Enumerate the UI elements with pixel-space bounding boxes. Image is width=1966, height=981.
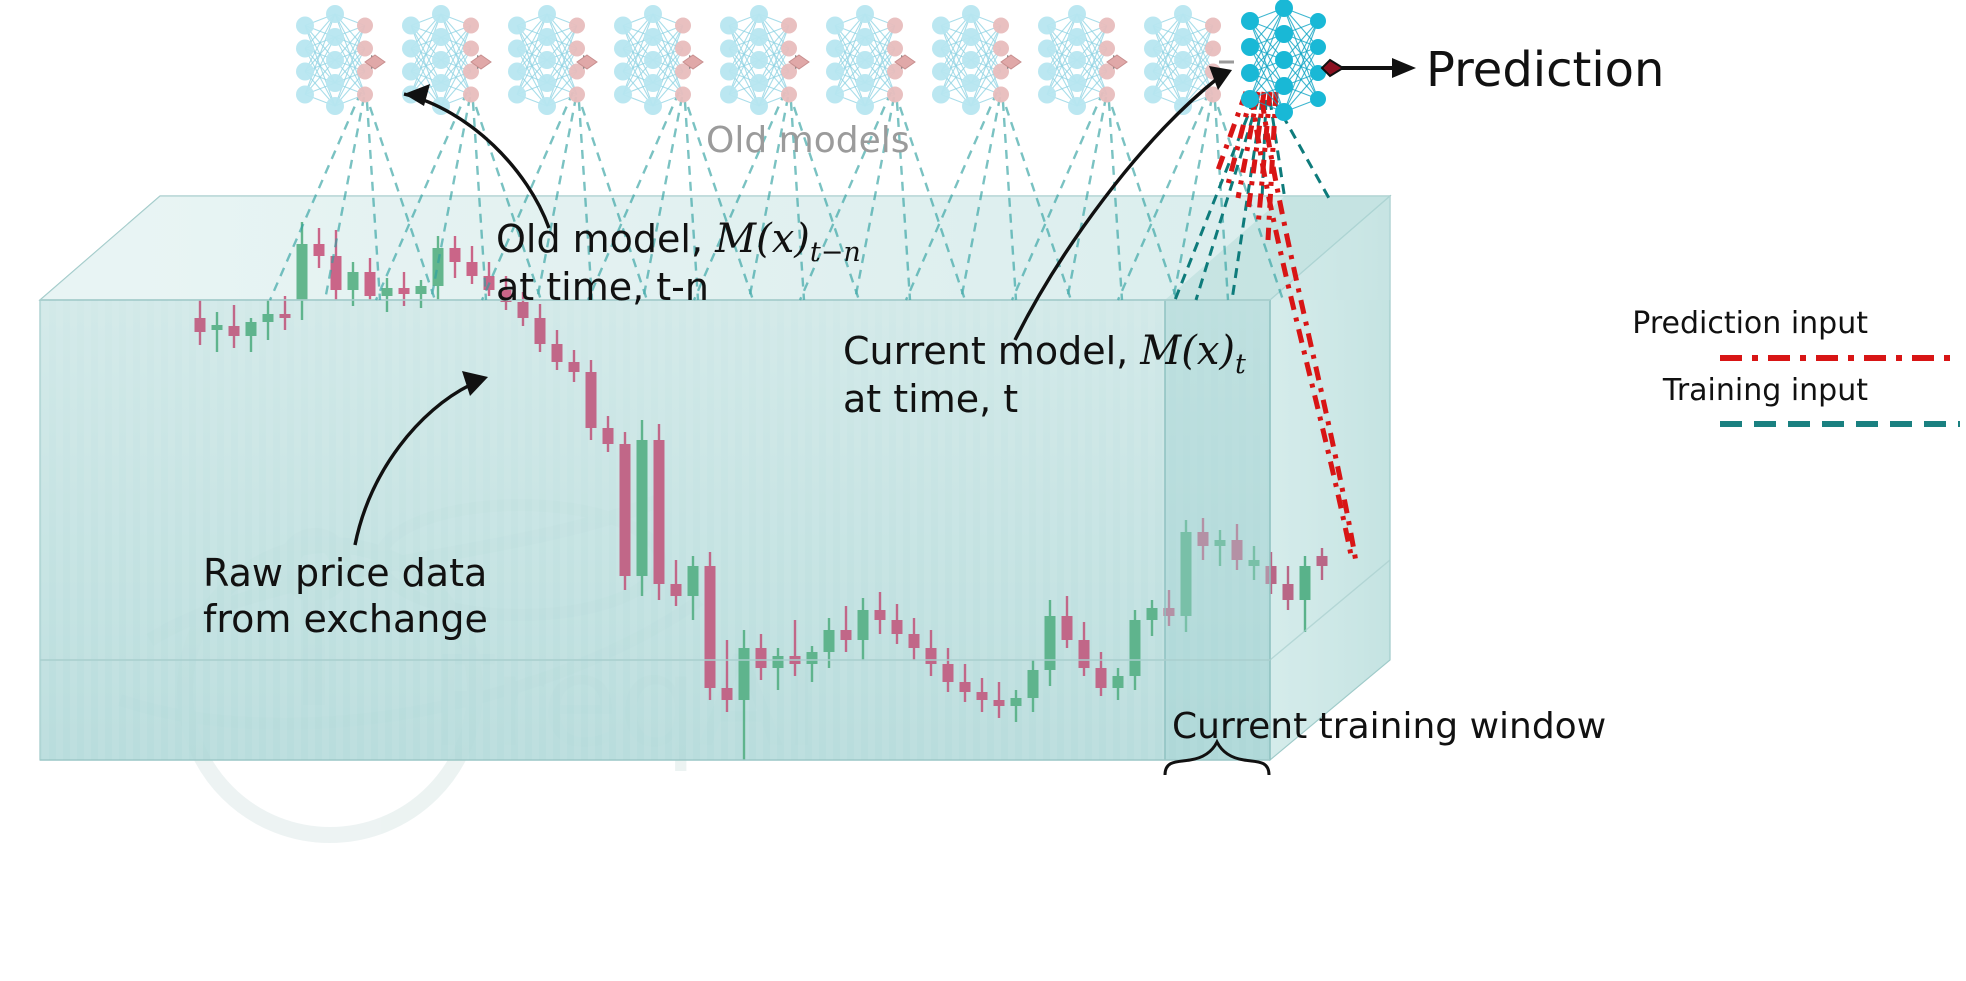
figure-root: FreqAI (0, 0, 1966, 981)
old-model-line1: Old model, M(x)t−n (496, 216, 861, 268)
current-model-line2: at time, t (843, 377, 1018, 421)
annotations: Old models Prediction Old model, M(x)t−n… (0, 0, 1966, 981)
raw-price-annotation: Raw price data from exchange (203, 551, 488, 641)
legend: Prediction input Training input (1632, 306, 1960, 424)
current-training-window-annotation: Current training window (1172, 706, 1606, 747)
raw-price-line1: Raw price data (203, 551, 487, 595)
prediction-label: Prediction (1426, 42, 1664, 98)
current-model-line1: Current model, M(x)t (843, 328, 1246, 380)
current-model-math-sub: t (1235, 349, 1246, 380)
old-model-callout-arrow (404, 84, 549, 228)
old-models-group-label: Old models (706, 120, 909, 161)
old-model-line1-prefix: Old model, (496, 217, 715, 261)
prediction-label-group: Prediction (1426, 42, 1664, 98)
raw-price-line2: from exchange (203, 597, 488, 641)
old-model-annotation: Old model, M(x)t−n at time, t-n (496, 216, 861, 309)
current-model-math-M: M (1139, 328, 1182, 374)
legend-label-prediction-input: Prediction input (1632, 306, 1868, 341)
old-model-math-M: M (714, 216, 757, 262)
old-model-line2: at time, t-n (496, 265, 709, 309)
old-models-label: Old models (706, 120, 909, 161)
current-model-line1-prefix: Current model, (843, 329, 1140, 373)
legend-label-training-input: Training input (1662, 373, 1868, 408)
current-model-math-x: (x) (1181, 328, 1235, 374)
current-training-window-label: Current training window (1172, 706, 1606, 747)
old-model-math-sub: t−n (810, 237, 861, 268)
current-model-annotation: Current model, M(x)t at time, t (843, 328, 1246, 421)
old-model-math-x: (x) (756, 216, 810, 262)
current-model-callout-arrow (1015, 66, 1232, 340)
legend-item-prediction-input: Prediction input (1632, 306, 1960, 358)
raw-price-callout-arrow (355, 371, 488, 545)
legend-item-training-input: Training input (1662, 373, 1960, 424)
